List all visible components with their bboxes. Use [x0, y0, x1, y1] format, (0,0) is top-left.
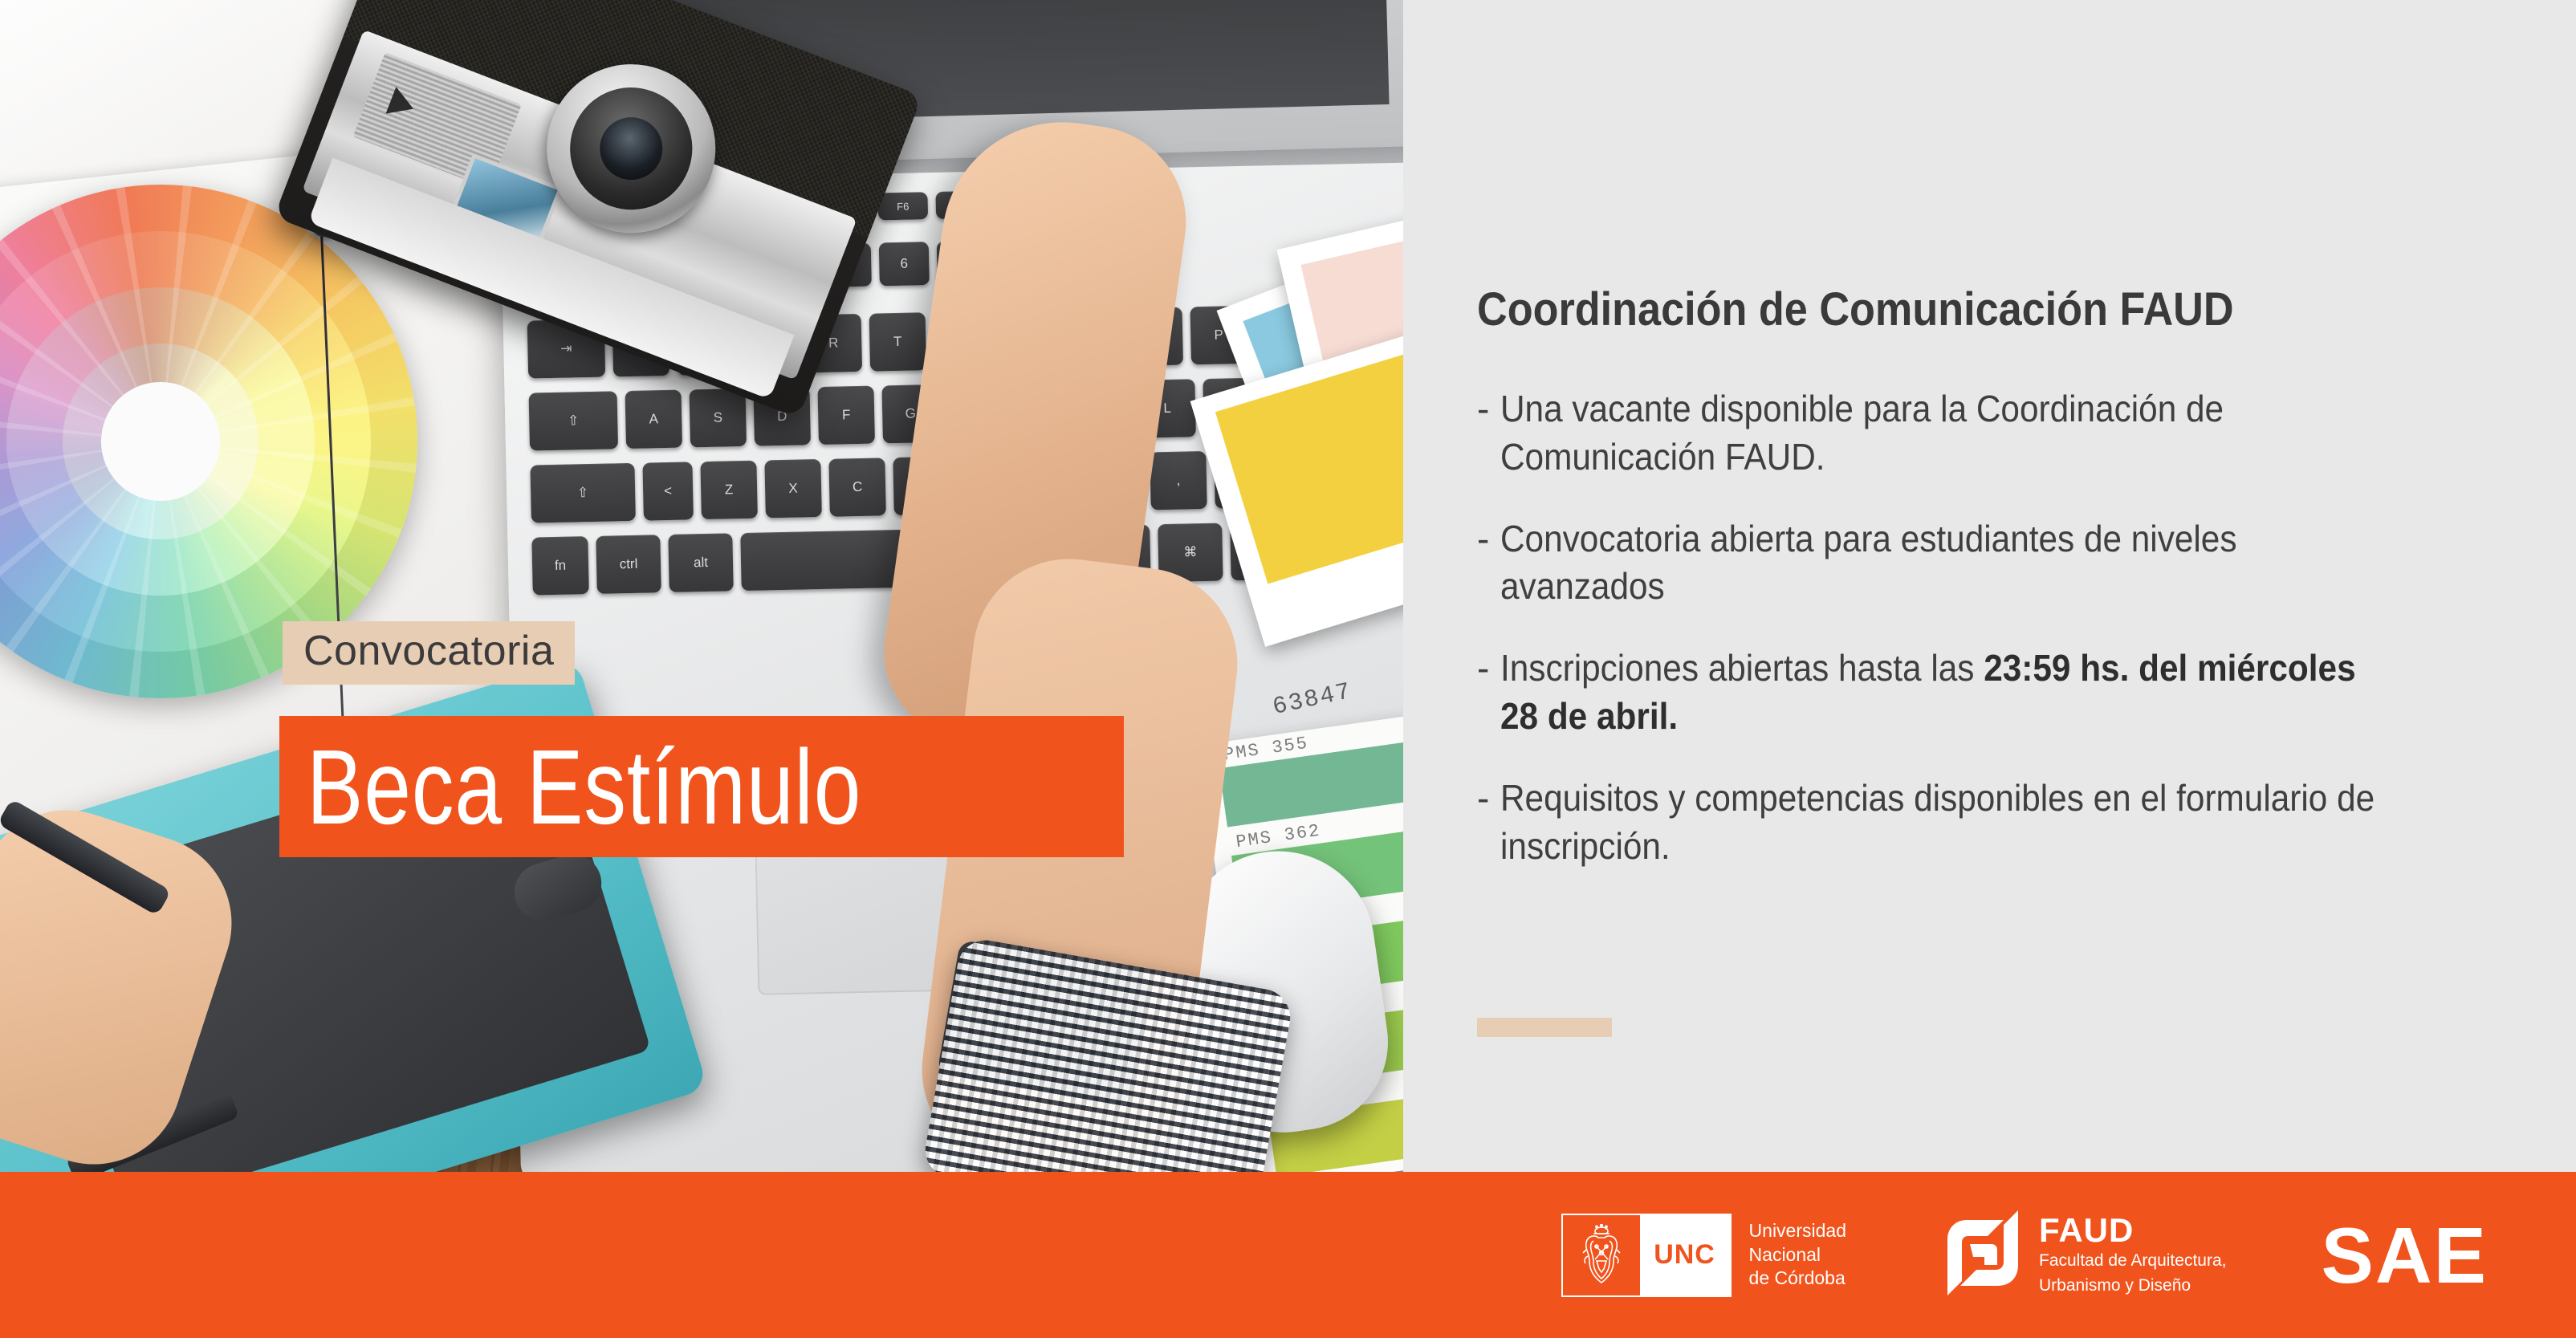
- keyboard-key: Z: [700, 461, 757, 519]
- bullet-item: -Inscripciones abiertas hasta las 23:59 …: [1477, 645, 2521, 741]
- bullet-text-regular: Requisitos y competencias disponibles en…: [1500, 777, 2375, 867]
- keyboard-key: ⇧: [530, 463, 635, 523]
- poster-canvas: escF1F2F3F4F5F6F7F8F9F10 º1234567890 ⇥QW…: [0, 0, 2576, 1338]
- bullet-dash: -: [1477, 645, 1489, 693]
- camera-lens-glass: [590, 108, 672, 189]
- bullet-item: -Convocatoria abierta para estudiantes d…: [1477, 515, 2521, 612]
- unc-wordmark: Universidad Nacional de Córdoba: [1749, 1219, 1846, 1291]
- footer-bar: UNC Universidad Nacional de Córdoba: [0, 1172, 2576, 1338]
- unc-line-2: Nacional: [1749, 1243, 1846, 1267]
- bullet-text-regular: Convocatoria abierta para estudiantes de…: [1500, 518, 2237, 608]
- keyboard-key: X: [764, 459, 821, 518]
- keyboard-key: ctrl: [596, 535, 661, 594]
- unc-line-1: Universidad: [1749, 1219, 1846, 1243]
- keyboard-key: F6: [877, 192, 928, 220]
- camera-lens-mid: [553, 70, 710, 226]
- unc-logo[interactable]: UNC Universidad Nacional de Córdoba: [1561, 1214, 1846, 1297]
- bullet-dash: -: [1477, 515, 1489, 563]
- keyboard-key: alt: [668, 533, 733, 592]
- page-title: Coordinación de Comunicación FAUD: [1477, 283, 2234, 336]
- unc-line-3: de Córdoba: [1749, 1267, 1846, 1291]
- faud-acronym: FAUD: [2039, 1214, 2226, 1247]
- keyboard-key: S: [690, 388, 747, 447]
- bullet-dash: -: [1477, 385, 1489, 433]
- keyboard-key: A: [625, 390, 682, 449]
- faud-logo-mark: [1941, 1209, 2025, 1301]
- footer-logos: UNC Universidad Nacional de Córdoba: [1561, 1172, 2488, 1338]
- hero-title-band: Beca Estímulo: [279, 716, 1124, 857]
- unc-shield-icon: [1563, 1215, 1640, 1295]
- accent-bar: [1477, 1018, 1612, 1037]
- keyboard-key: F: [817, 386, 874, 445]
- keyboard-key: T: [869, 312, 926, 371]
- keyboard-row: ⇧<ZXCVBNM,.: [530, 449, 1271, 523]
- bullet-text: Inscripciones abiertas hasta las 23:59 h…: [1500, 645, 2401, 741]
- kicker-badge: Convocatoria: [283, 621, 575, 685]
- unc-logo-mark: UNC: [1561, 1214, 1732, 1297]
- keyboard-key: ⇧: [529, 391, 618, 450]
- bullet-item: -Una vacante disponible para la Coordina…: [1477, 385, 2521, 482]
- bullet-dash: -: [1477, 775, 1489, 823]
- keyboard-key: <: [642, 462, 693, 520]
- keyboard-key: C: [828, 458, 885, 516]
- hero-photo: escF1F2F3F4F5F6F7F8F9F10 º1234567890 ⇥QW…: [0, 0, 1403, 1172]
- unc-acronym: UNC: [1654, 1239, 1715, 1271]
- bullet-text-regular: Una vacante disponible para la Coordinac…: [1500, 388, 2224, 478]
- color-wheel-hub: [101, 382, 219, 500]
- keyboard-key: fn: [531, 536, 588, 595]
- keyboard-key: ,: [1150, 451, 1207, 510]
- bullet-list: -Una vacante disponible para la Coordina…: [1477, 385, 2521, 904]
- bullet-text: Una vacante disponible para la Coordinac…: [1500, 385, 2401, 482]
- bullet-text: Requisitos y competencias disponibles en…: [1500, 775, 2401, 871]
- faud-line-2: Urbanismo y Diseño: [2039, 1275, 2226, 1296]
- keyboard-key: 6: [879, 242, 930, 286]
- sae-logo[interactable]: SAE: [2321, 1216, 2488, 1295]
- info-panel: Coordinación de Comunicación FAUD -Una v…: [1403, 0, 2576, 1172]
- unc-acronym-box: UNC: [1640, 1215, 1730, 1295]
- bullet-text-regular: Inscripciones abiertas hasta las: [1500, 647, 1984, 689]
- faud-logo[interactable]: FAUD Facultad de Arquitectura, Urbanismo…: [1941, 1209, 2226, 1301]
- faud-line-1: Facultad de Arquitectura,: [2039, 1251, 2226, 1271]
- hero-title: Beca Estímulo: [307, 726, 861, 848]
- bullet-item: -Requisitos y competencias disponibles e…: [1477, 775, 2521, 871]
- bullet-text: Convocatoria abierta para estudiantes de…: [1500, 515, 2401, 612]
- faud-wordmark: FAUD Facultad de Arquitectura, Urbanismo…: [2039, 1214, 2226, 1296]
